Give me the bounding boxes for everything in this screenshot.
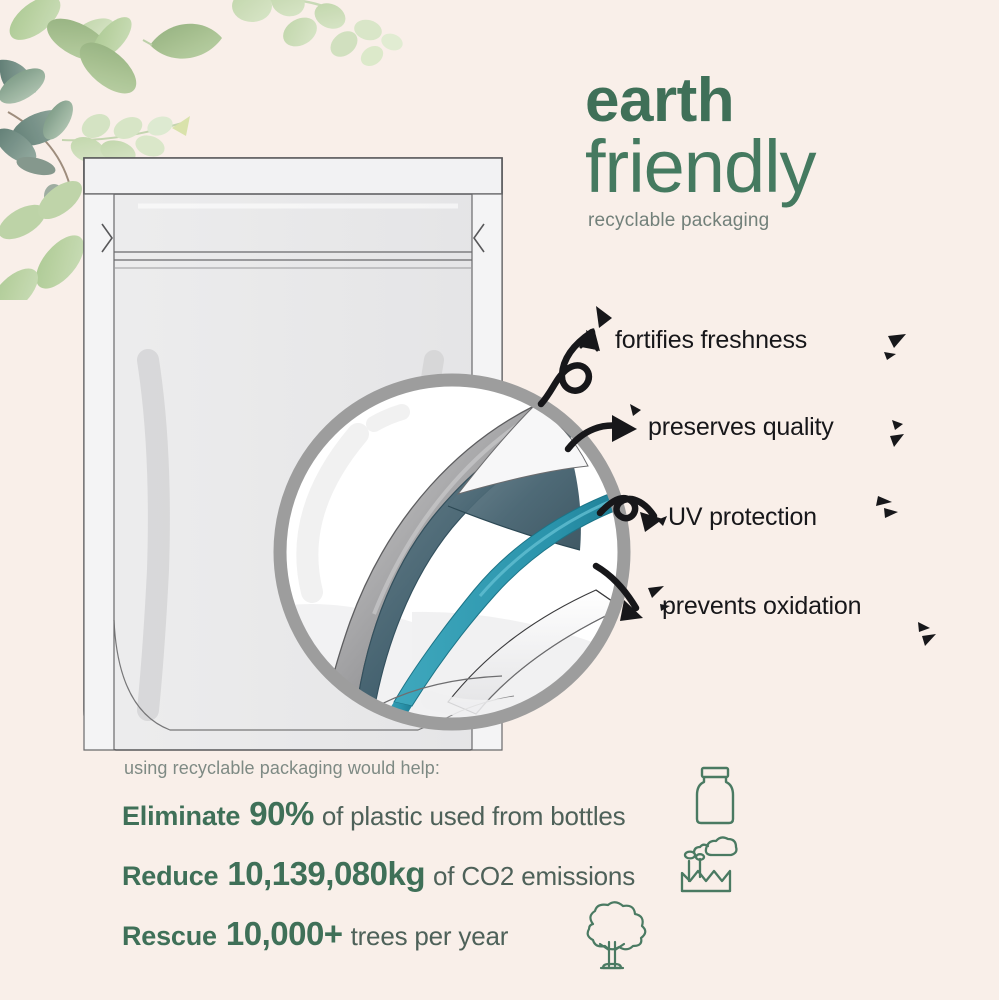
feature-label-uv-protection: UV protection [668,503,817,532]
stat-row-eliminate: Eliminate 90% of plastic used from bottl… [122,795,882,833]
factory-icon [676,833,742,895]
headline-block: earth friendly recyclable packaging [585,72,985,232]
stat-row-reduce: Reduce 10,139,080kg of CO2 emissions [122,855,882,893]
stat-value: 10,000+ [226,915,343,953]
stat-row-rescue: Rescue 10,000+ trees per year [122,915,882,953]
stats-section: using recyclable packaging would help: E… [122,758,882,975]
stat-tail: trees per year [351,921,509,952]
stat-value: 10,139,080kg [227,855,425,893]
bottle-icon [688,765,742,827]
tree-icon [563,900,655,974]
feature-label-prevents-oxidation: prevents oxidation [662,592,861,621]
feature-label-fortifies-freshness: fortifies freshness [615,326,807,355]
stat-verb: Rescue [122,921,217,952]
stats-intro-text: using recyclable packaging would help: [124,758,882,779]
stat-verb: Reduce [122,861,218,892]
page-subtitle: recyclable packaging [588,210,985,232]
page-title-friendly: friendly [585,131,985,202]
stat-verb: Eliminate [122,801,240,832]
magnifier-circle [262,362,642,742]
stat-value: 90% [249,795,314,833]
stat-tail: of plastic used from bottles [322,801,626,832]
page-title-earth: earth [585,72,985,129]
feature-label-preserves-quality: preserves quality [648,413,834,442]
infographic-poster: earth friendly recyclable packaging fort… [0,0,999,1000]
stat-tail: of CO2 emissions [433,861,635,892]
